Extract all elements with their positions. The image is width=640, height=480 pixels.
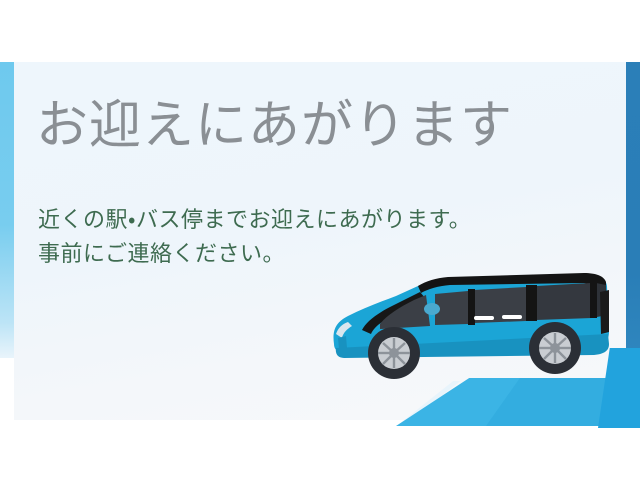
description-text: 近くの駅・バス停までお迎えにあがります。 事前にご連絡ください。 [38,203,471,271]
car-side-mirror [424,303,440,315]
car-wheel-rear [529,322,581,374]
minivan-illustration [322,252,618,387]
car-window-quarter [536,283,592,320]
car-d-pillar [590,282,597,318]
car-b-pillar [468,289,475,325]
description-line-2: 事前にご連絡ください。 [38,237,471,271]
car-window-front [435,291,468,325]
car-bumper-notch [338,336,347,349]
car-door-handle-front [474,316,494,320]
page-title: お迎えにあがります [36,97,513,155]
car-c-pillar [526,285,537,321]
promo-banner: お迎えにあがります 近くの駅・バス停までお迎えにあがります。 事前にご連絡くださ… [0,0,640,480]
description-line-1: 近くの駅・バス停までお迎えにあがります。 [38,203,471,237]
car-wheel-front [368,327,420,379]
car-door-handle-rear [502,315,522,319]
car-rear-trim [600,290,609,334]
